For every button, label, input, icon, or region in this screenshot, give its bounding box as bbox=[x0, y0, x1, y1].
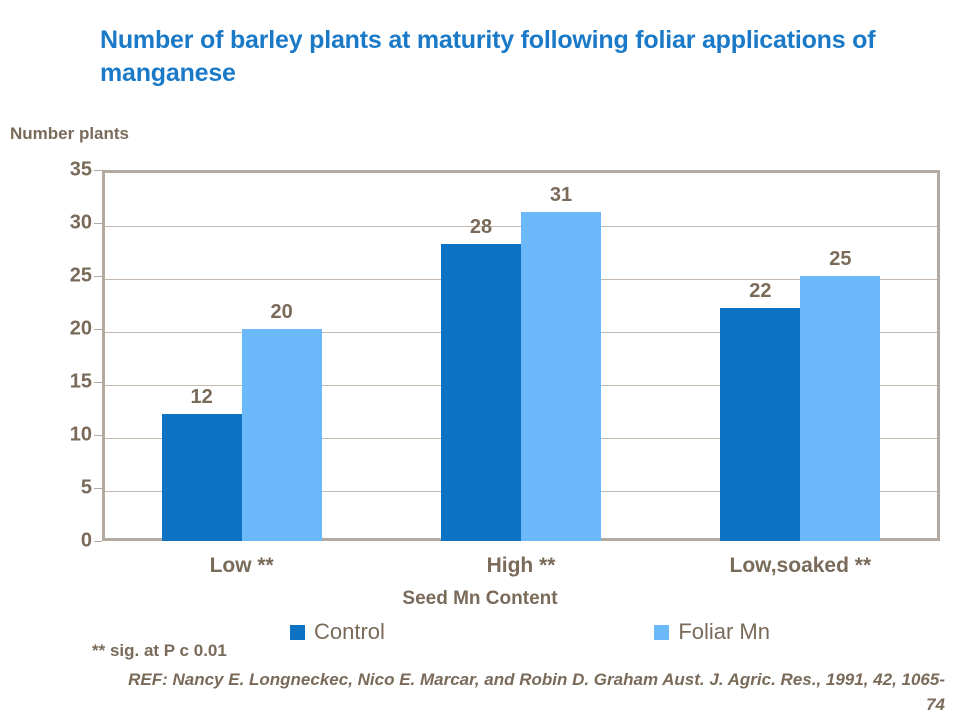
y-axis-tick-label: 20 bbox=[36, 318, 92, 341]
legend-label-foliar-mn: Foliar Mn bbox=[678, 619, 770, 645]
y-axis-tick-mark bbox=[94, 488, 102, 489]
bar-control-0[interactable] bbox=[162, 414, 242, 541]
y-axis-tick-label: 5 bbox=[36, 477, 92, 500]
bar-foliar-mn-0[interactable] bbox=[242, 329, 322, 541]
y-axis-tick-mark bbox=[94, 170, 102, 171]
legend-item-control[interactable]: Control bbox=[290, 619, 385, 645]
y-axis-tick-mark bbox=[94, 435, 102, 436]
x-axis-category-label: Low ** bbox=[102, 554, 382, 578]
reference-citation: REF: Nancy E. Longneckec, Nico E. Marcar… bbox=[120, 668, 945, 717]
bar-value-label: 12 bbox=[162, 386, 242, 409]
significance-note: ** sig. at P c 0.01 bbox=[92, 641, 227, 661]
x-axis-title: Seed Mn Content bbox=[0, 588, 960, 610]
y-axis-tick-mark bbox=[94, 276, 102, 277]
bar-value-label: 20 bbox=[242, 301, 322, 324]
bar-foliar-mn-2[interactable] bbox=[800, 276, 880, 541]
bar-value-label: 28 bbox=[441, 216, 521, 239]
y-axis-tick-label: 15 bbox=[36, 371, 92, 394]
y-axis-tick-label: 10 bbox=[36, 424, 92, 447]
bar-value-label: 22 bbox=[720, 280, 800, 303]
legend-label-control: Control bbox=[314, 619, 385, 645]
y-axis-title: Number plants bbox=[10, 124, 129, 144]
bar-value-label: 31 bbox=[521, 184, 601, 207]
bar-control-2[interactable] bbox=[720, 308, 800, 541]
y-axis-tick-label: 30 bbox=[36, 212, 92, 235]
x-axis-category-label: High ** bbox=[381, 554, 661, 578]
legend-swatch-control-icon bbox=[290, 625, 305, 640]
y-axis-tick-mark bbox=[94, 223, 102, 224]
y-axis-tick-label: 25 bbox=[36, 265, 92, 288]
y-axis-tick-mark bbox=[94, 541, 102, 542]
legend-swatch-foliar-mn-icon bbox=[654, 625, 669, 640]
bar-foliar-mn-1[interactable] bbox=[521, 212, 601, 541]
y-axis-tick-label: 35 bbox=[36, 159, 92, 182]
bar-control-1[interactable] bbox=[441, 244, 521, 541]
bars-layer bbox=[102, 170, 940, 541]
bar-chart: Number of barley plants at maturity foll… bbox=[0, 0, 960, 720]
y-axis-tick-mark bbox=[94, 329, 102, 330]
chart-title: Number of barley plants at maturity foll… bbox=[100, 24, 900, 90]
y-axis-tick-label: 0 bbox=[36, 530, 92, 553]
legend-item-foliar-mn[interactable]: Foliar Mn bbox=[654, 619, 770, 645]
bar-value-label: 25 bbox=[800, 248, 880, 271]
legend: Control Foliar Mn bbox=[290, 619, 770, 645]
x-axis-category-label: Low,soaked ** bbox=[660, 554, 940, 578]
y-axis-tick-mark bbox=[94, 382, 102, 383]
